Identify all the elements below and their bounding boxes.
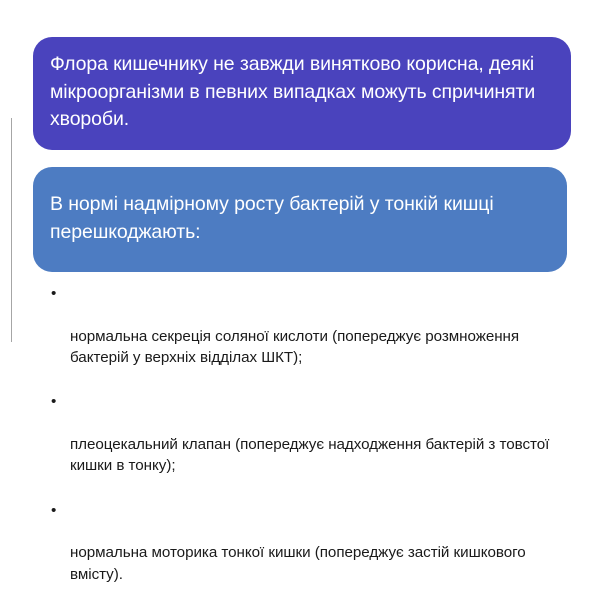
list-item: • нормальна моторика тонкої кишки (попер…: [40, 500, 570, 606]
slide-canvas: Флора кишечнику не завжди винятково кори…: [0, 0, 600, 480]
callout-box-secondary: В нормі надмірному росту бактерій у тонк…: [33, 167, 567, 272]
list-item-text: нормальна секреція соляної кислоти (попе…: [70, 326, 570, 369]
bullet-marker-icon: •: [51, 391, 56, 412]
bullet-marker-icon: •: [51, 500, 56, 521]
bullet-marker-icon: •: [51, 283, 56, 304]
vertical-divider-line: [11, 118, 12, 342]
list-item-text: нормальна моторика тонкої кишки (поперед…: [70, 542, 570, 585]
list-item: • нормальна секреція соляної кислоти (по…: [40, 283, 570, 389]
callout-primary-text: Флора кишечнику не завжди винятково кори…: [50, 51, 551, 134]
bullet-list: • нормальна секреція соляної кислоти (по…: [40, 283, 570, 608]
callout-box-primary: Флора кишечнику не завжди винятково кори…: [33, 37, 571, 150]
list-item-text: плеоцекальний клапан (попереджує надходж…: [70, 434, 570, 477]
list-item: • плеоцекальний клапан (попереджує надхо…: [40, 391, 570, 497]
callout-secondary-text: В нормі надмірному росту бактерій у тонк…: [50, 191, 547, 246]
